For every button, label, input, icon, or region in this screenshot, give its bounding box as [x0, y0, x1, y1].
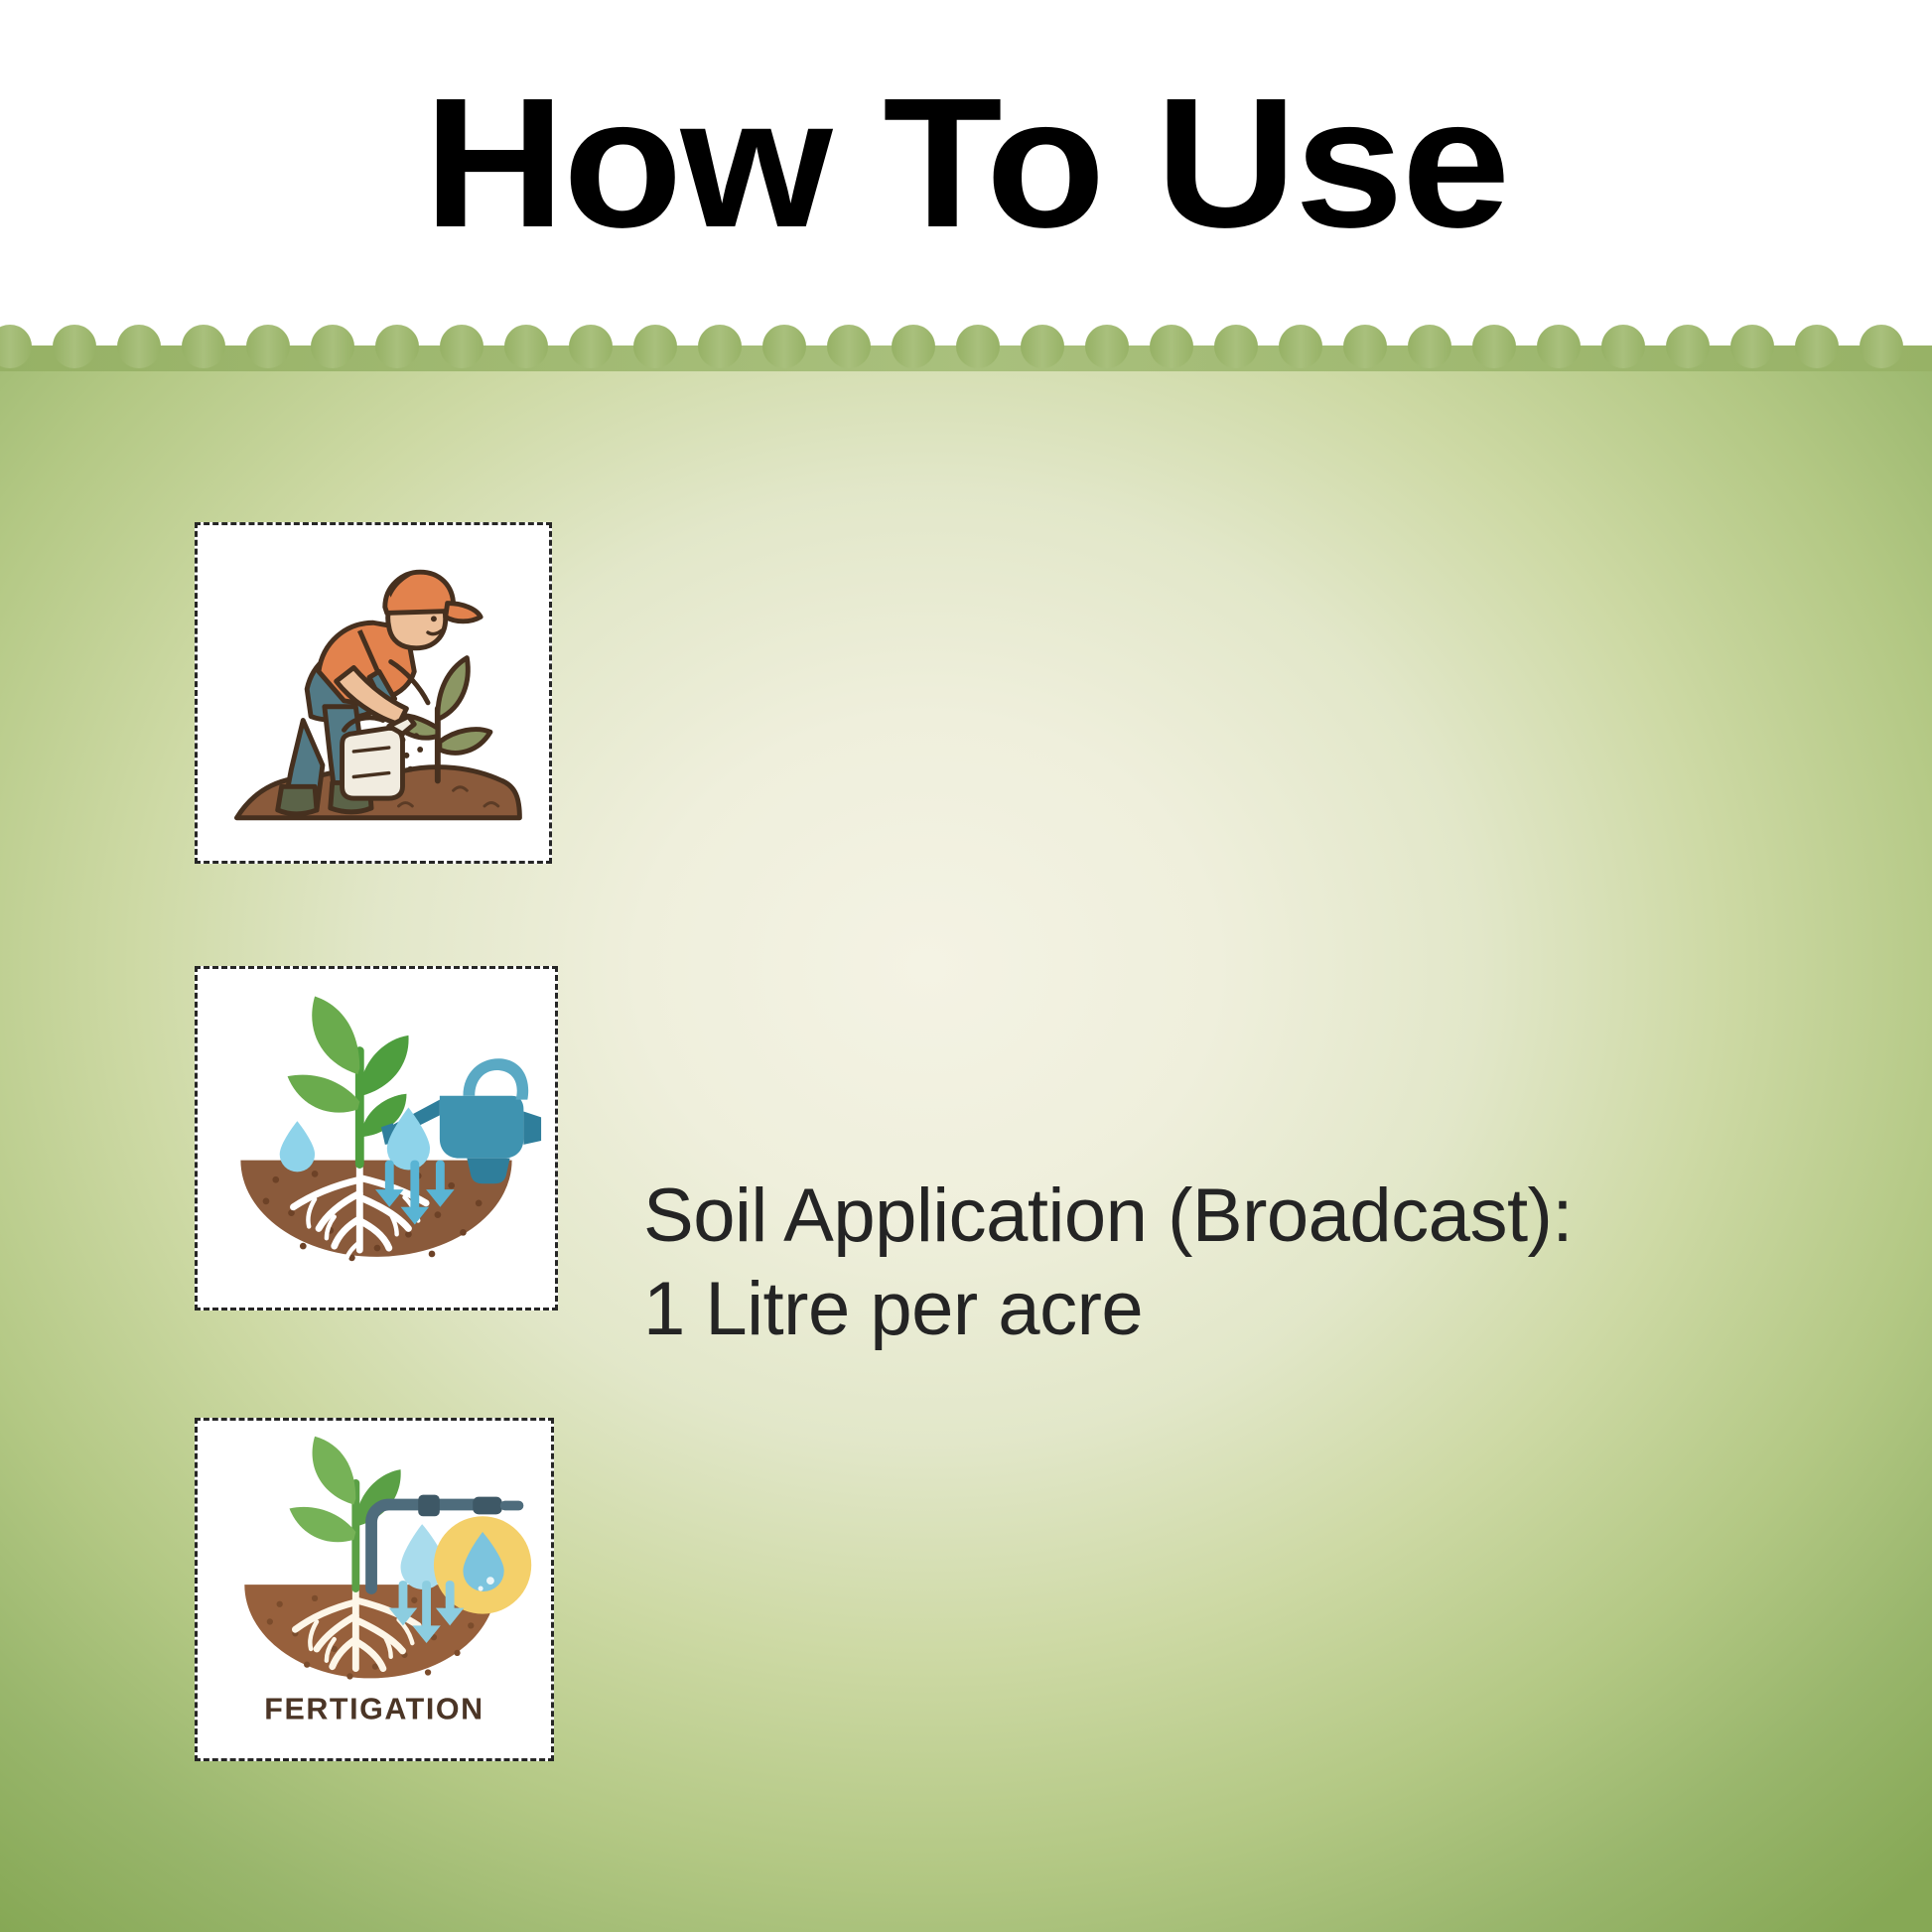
step-3-icon-card[interactable]: FERTIGATION	[195, 1418, 554, 1761]
fertigation-caption: FERTIGATION	[264, 1693, 483, 1726]
header-band: How To Use	[0, 0, 1932, 345]
step-1-icon-card[interactable]	[195, 522, 552, 864]
scalloped-divider	[0, 324, 1932, 371]
farmer-pouring-fertilizer-on-soil-icon	[198, 525, 549, 861]
poster-canvas: How To Use	[0, 0, 1932, 1932]
drip-irrigation-fertigation-icon: FERTIGATION	[198, 1421, 551, 1758]
plant-roots-watering-can-icon	[198, 969, 555, 1308]
page-title: How To Use	[0, 71, 1932, 256]
step-1-line-1: Soil Application (Broadcast):	[643, 1170, 1894, 1263]
step-1-text: Soil Application (Broadcast): 1 Litre pe…	[643, 1170, 1894, 1356]
step-2-icon-card[interactable]	[195, 966, 558, 1311]
step-1-line-2: 1 Litre per acre	[643, 1263, 1894, 1356]
